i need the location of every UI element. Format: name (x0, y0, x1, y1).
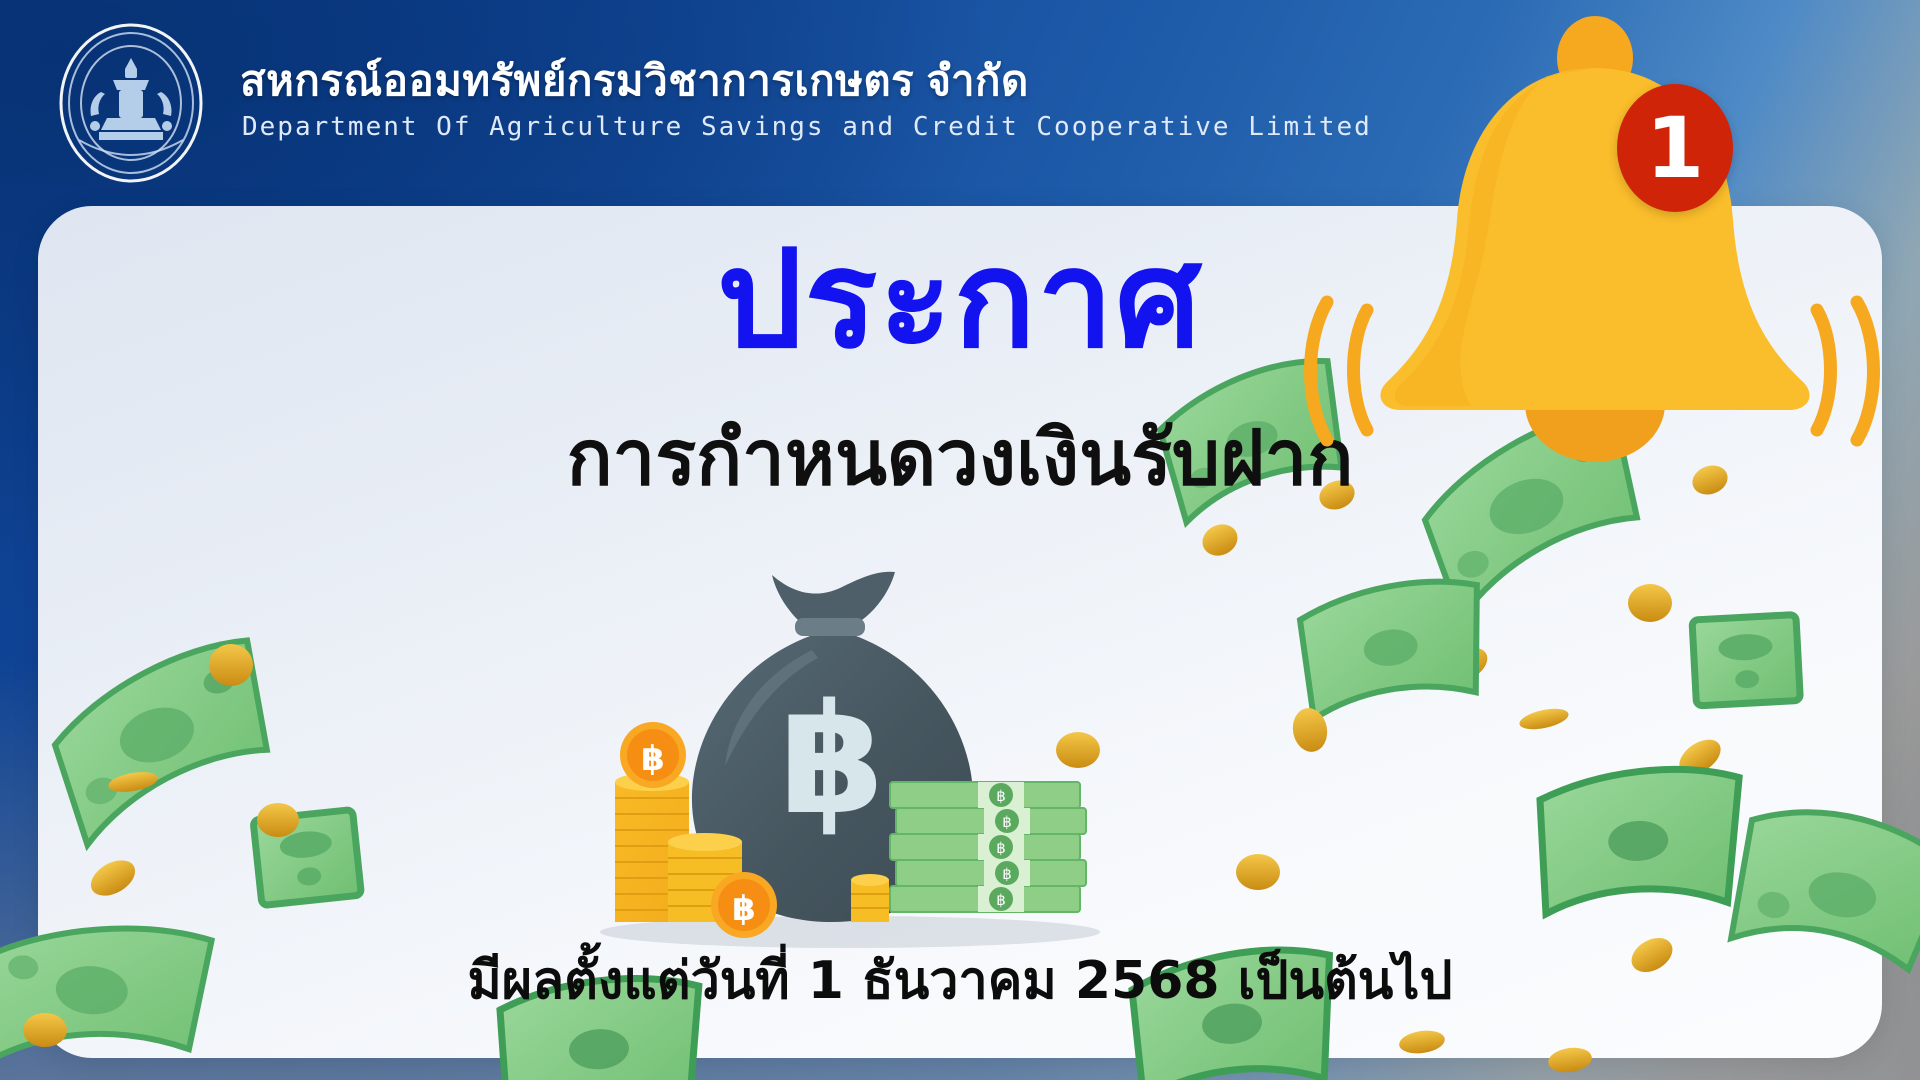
bitcoin-coin-lower: ฿ (711, 872, 777, 938)
organization-name-english: Department Of Agriculture Savings and Cr… (242, 112, 1372, 142)
bitcoin-coin-upper: ฿ (620, 722, 686, 788)
coin-currency-symbol: ฿ (732, 889, 756, 929)
svg-text:฿: ฿ (1002, 813, 1012, 831)
notification-bell-icon[interactable] (1285, 10, 1905, 480)
svg-text:฿: ฿ (996, 839, 1006, 857)
announcement-poster: ฿ (0, 0, 1920, 1080)
bell-sound-wave-right (1817, 302, 1874, 440)
svg-text:฿: ฿ (996, 891, 1006, 909)
cooperative-seal-emblem-icon (55, 22, 207, 184)
coin-currency-symbol: ฿ (641, 739, 665, 779)
money-bag-illustration: ฿ (560, 550, 1120, 960)
bell-clapper (1525, 404, 1665, 462)
notification-badge: 1 (1617, 84, 1733, 212)
svg-text:฿: ฿ (996, 787, 1006, 805)
bell-sound-wave-left (1311, 302, 1368, 440)
money-illustration-svg: ฿ (560, 550, 1120, 960)
cash-bundle-stack: ฿ ฿ ฿ ฿ ฿ (890, 782, 1086, 912)
svg-text:฿: ฿ (1002, 865, 1012, 883)
coin-stack-short (851, 874, 889, 922)
organization-name-thai: สหกรณ์ออมทรัพย์กรมวิชาการเกษตร จำกัด (240, 48, 1029, 114)
bag-currency-symbol: ฿ (779, 671, 885, 848)
